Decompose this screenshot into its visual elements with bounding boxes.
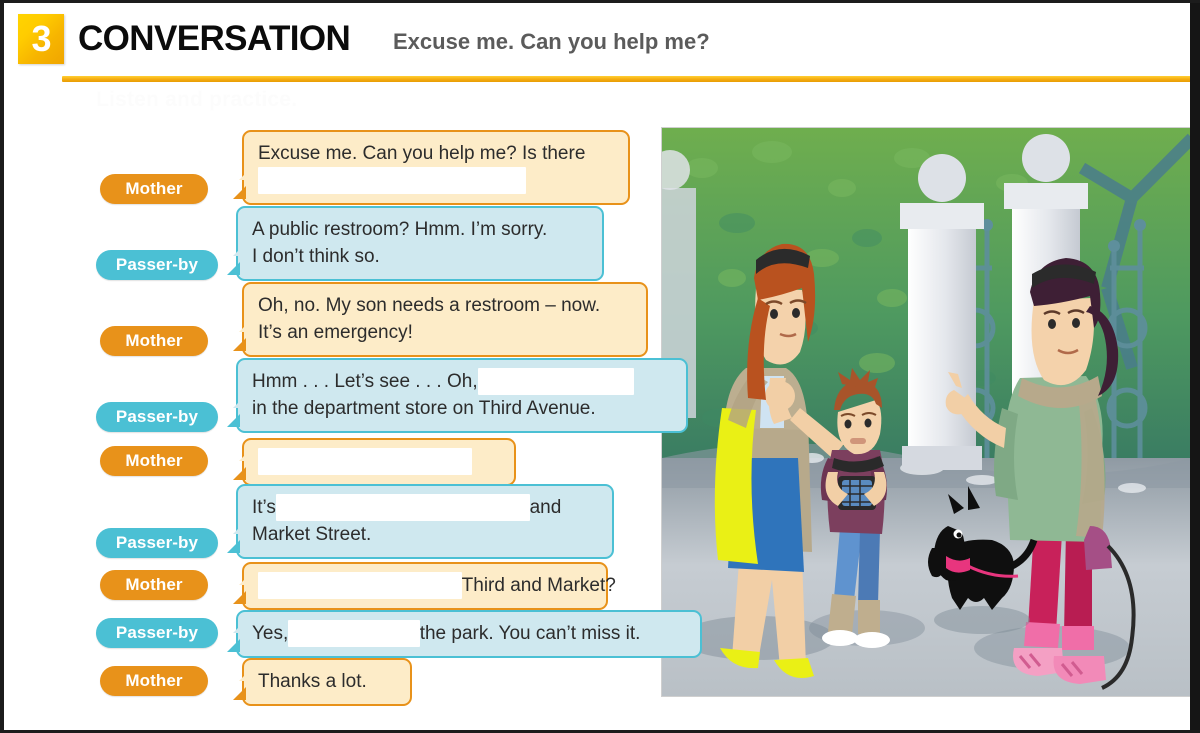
lesson-page: 3 CONVERSATION Excuse me. Can you help m… bbox=[0, 0, 1200, 733]
unit-number-text: 3 bbox=[31, 21, 50, 57]
speech-bubble-passer-4: Yes,it’s across fromthe park. You can’t … bbox=[236, 610, 702, 658]
bubble-tail bbox=[233, 591, 246, 604]
speaker-label-passer-by: Passer-by bbox=[96, 528, 218, 558]
answer-blank[interactable]: Can you say that again, bbox=[258, 572, 462, 599]
bubble-line: Third and Market? bbox=[462, 575, 616, 596]
bubble-line: Thanks a lot. bbox=[258, 668, 396, 695]
illustration-svg bbox=[662, 128, 1192, 696]
page-title: CONVERSATION bbox=[78, 16, 350, 62]
speaker-label-passer-by: Passer-by bbox=[96, 618, 218, 648]
speech-bubble-passer-3: It’son the corner of Third Avenueand Mar… bbox=[236, 484, 614, 559]
speaker-label-mother: Mother bbox=[100, 666, 208, 696]
bubble-tail bbox=[227, 414, 240, 427]
answer-blank[interactable]: Where on Third Avenue? bbox=[258, 448, 472, 475]
speaker-label-mother: Mother bbox=[100, 174, 208, 204]
bubble-tail bbox=[233, 687, 246, 700]
page-subtitle: Excuse me. Can you help me? bbox=[393, 23, 710, 61]
page-edge-right bbox=[1190, 0, 1200, 733]
bubble-line: It’s an emergency! bbox=[258, 319, 632, 346]
answer-blank[interactable]: a public restroom around here? bbox=[258, 167, 526, 194]
speech-bubble-mother-1: Excuse me. Can you help me? Is there a p… bbox=[242, 130, 630, 205]
bubble-tail bbox=[227, 262, 240, 275]
bubble-line: Yes, bbox=[252, 623, 288, 644]
speech-bubble-mother-4: Can you say that again,Third and Market? bbox=[242, 562, 608, 610]
speech-bubble-passer-2: Hmm . . . Let’s see . . . Oh,there’s a r… bbox=[236, 358, 688, 433]
bubble-tail bbox=[227, 639, 240, 652]
bubble-line: Excuse me. Can you help me? Is there bbox=[258, 140, 614, 167]
page-edge-left bbox=[0, 0, 4, 733]
unit-number-badge: 3 bbox=[18, 14, 64, 64]
speech-bubble-mother-3: Where on Third Avenue? bbox=[242, 438, 516, 486]
bubble-line: A public restroom? Hmm. I’m sorry. bbox=[252, 216, 588, 243]
speaker-label-mother: Mother bbox=[100, 326, 208, 356]
speaker-label-mother: Mother bbox=[100, 570, 208, 600]
bubble-line: the park. You can’t miss it. bbox=[420, 623, 641, 644]
bubble-line: Oh, no. My son needs a restroom – now. bbox=[258, 292, 632, 319]
speech-bubble-passer-1: A public restroom? Hmm. I’m sorry. I don… bbox=[236, 206, 604, 281]
bubble-line: and bbox=[530, 497, 562, 518]
speech-bubble-mother-2: Oh, no. My son needs a restroom – now. I… bbox=[242, 282, 648, 357]
bubble-line: Market Street. bbox=[252, 521, 598, 548]
page-header: 3 CONVERSATION Excuse me. Can you help m… bbox=[18, 14, 1178, 70]
answer-blank[interactable]: there’s a restroom bbox=[478, 368, 635, 395]
bubble-tail bbox=[233, 186, 246, 199]
bubble-line: I don’t think so. bbox=[252, 243, 588, 270]
instruction-text: Listen and practice. bbox=[96, 88, 297, 112]
bubble-line: in the department store on Third Avenue. bbox=[252, 395, 672, 422]
page-edge-top bbox=[0, 0, 1200, 3]
bubble-tail bbox=[227, 540, 240, 553]
bubble-tail bbox=[233, 467, 246, 480]
speaker-label-passer-by: Passer-by bbox=[96, 250, 218, 280]
answer-blank[interactable]: it’s across from bbox=[288, 620, 419, 647]
bubble-line: It’s bbox=[252, 497, 276, 518]
bubble-line: Hmm . . . Let’s see . . . Oh, bbox=[252, 371, 478, 392]
speaker-label-mother: Mother bbox=[100, 446, 208, 476]
speech-bubble-mother-5: Thanks a lot. bbox=[242, 658, 412, 706]
answer-blank[interactable]: on the corner of Third Avenue bbox=[276, 494, 530, 521]
header-divider bbox=[62, 76, 1192, 82]
bubble-tail bbox=[233, 338, 246, 351]
scene-illustration bbox=[661, 127, 1193, 697]
speaker-label-passer-by: Passer-by bbox=[96, 402, 218, 432]
